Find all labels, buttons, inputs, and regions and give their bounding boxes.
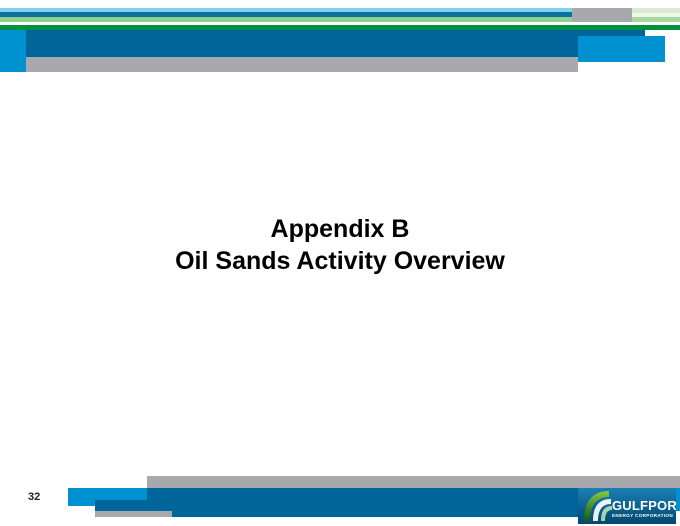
slide-title-line-1: Appendix B <box>0 213 680 245</box>
gulfport-logo: GULFPORT ENERGY CORPORATION <box>578 488 676 524</box>
gulfport-wordmark: GULFPORT <box>612 498 676 513</box>
header-block-blue-lower <box>26 36 578 57</box>
header-block-grey-under <box>26 57 578 72</box>
slide-title: Appendix B Oil Sands Activity Overview <box>0 213 680 277</box>
slide-canvas: Appendix B Oil Sands Activity Overview 3… <box>0 0 680 526</box>
header-right-stripe-white <box>572 22 680 25</box>
header-block-cyan-left <box>0 30 26 72</box>
footer-band-grey-top <box>147 476 680 488</box>
footer-band-grey-tail <box>147 511 172 517</box>
header-stripe-light-green <box>0 17 632 22</box>
header-block-cyan-right <box>578 36 665 62</box>
gulfport-logo-icon: GULFPORT ENERGY CORPORATION <box>578 488 676 524</box>
page-number: 32 <box>28 491 40 503</box>
footer-band-blue-notch <box>95 500 155 511</box>
gulfport-tagline: ENERGY CORPORATION <box>612 513 673 518</box>
slide-title-line-2: Oil Sands Activity Overview <box>0 245 680 277</box>
footer-band-blue-tail <box>147 511 580 517</box>
